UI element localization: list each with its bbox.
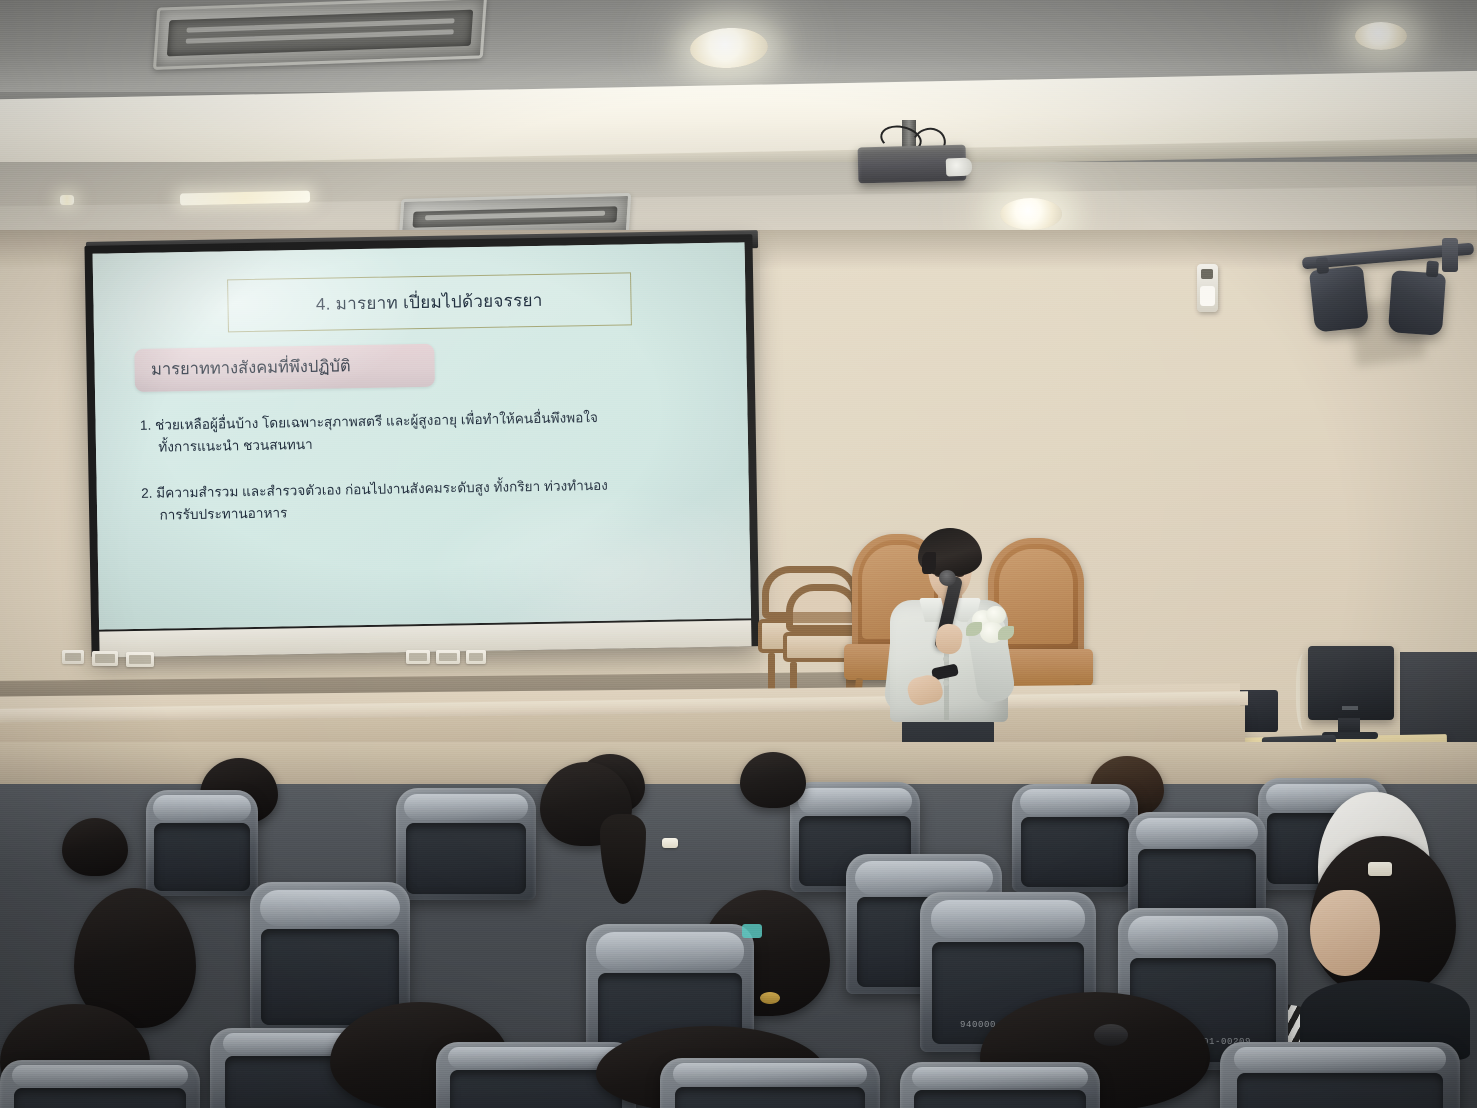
wall-outlet-plate-icon bbox=[436, 650, 460, 664]
wall-outlet-plate-icon bbox=[466, 650, 486, 664]
stage-spotlight-icon bbox=[1388, 270, 1446, 336]
stage-spotlight-icon bbox=[1309, 265, 1369, 332]
audience-seat bbox=[1220, 1042, 1460, 1108]
audience-seat bbox=[1012, 784, 1138, 892]
slide-bullet-1: 1. ช่วยเหลือผู้อื่นบ้าง โดยเฉพาะสุภาพสตร… bbox=[140, 405, 714, 459]
wall-outlet-plate-icon bbox=[92, 651, 118, 666]
audience-seat bbox=[660, 1058, 880, 1108]
hair-clip-icon bbox=[662, 838, 678, 848]
slide-section-banner: มารยาททางสังคมที่พึงปฏิบัติ bbox=[135, 344, 436, 392]
projector-lens-icon bbox=[946, 158, 973, 177]
audience-seat: 940-00000-0103 bbox=[0, 1060, 200, 1108]
audience-seat bbox=[396, 788, 536, 900]
slide-bullet-2: 2. มีความสำรวม และสำรวจตัวเอง ก่อนไปงานส… bbox=[141, 473, 715, 527]
downlight-icon bbox=[1000, 198, 1062, 230]
wall-dispenser-icon bbox=[1197, 264, 1218, 312]
flower-bouquet bbox=[966, 606, 1014, 650]
projection-screen: 4. มารยาท เปี่ยมไปด้วยจรรยา มารยาททางสัง… bbox=[84, 234, 759, 658]
hair-tie-icon bbox=[1094, 1024, 1128, 1046]
audience-seat bbox=[900, 1062, 1100, 1108]
ac-grille bbox=[413, 206, 618, 227]
slide-title: 4. มารยาท เปี่ยมไปด้วยจรรยา bbox=[316, 287, 543, 318]
audience-head bbox=[62, 818, 128, 876]
lighting-bar-mount bbox=[1442, 238, 1458, 272]
ceiling-ac-unit-icon bbox=[153, 0, 487, 70]
slide-title-box: 4. มารยาท เปี่ยมไปด้วยจรรยา bbox=[227, 273, 632, 333]
strip-light-icon bbox=[60, 195, 74, 205]
computer-monitor-icon bbox=[1308, 646, 1394, 720]
hair-tie-icon bbox=[760, 992, 780, 1004]
hair-clip-icon bbox=[1368, 862, 1392, 876]
audience-area: 940000-801-00207 940000-801-00209 940-00… bbox=[0, 742, 1477, 1108]
presentation-slide: 4. มารยาท เปี่ยมไปด้วยจรรยา มารยาททางสัง… bbox=[93, 242, 751, 629]
wall-outlet-plate-icon bbox=[406, 650, 430, 664]
chair-back bbox=[786, 584, 860, 632]
audience-head bbox=[740, 752, 806, 808]
ac-grille bbox=[167, 10, 473, 57]
seat-sticker bbox=[742, 924, 762, 938]
presenter-hair bbox=[918, 528, 982, 576]
audience-seat bbox=[146, 790, 258, 896]
presenter bbox=[880, 528, 1016, 768]
auditorium-photo: 4. มารยาท เปี่ยมไปด้วยจรรยา มารยาททางสัง… bbox=[0, 0, 1477, 1108]
slide-bullet-list: 1. ช่วยเหลือผู้อื่นบ้าง โดยเฉพาะสุภาพสตร… bbox=[140, 405, 716, 551]
wall-outlet-plate-icon bbox=[126, 652, 154, 667]
wall-outlet-plate-icon bbox=[62, 650, 84, 664]
screen-surface: 4. มารยาท เปี่ยมไปด้วยจรรยา มารยาททางสัง… bbox=[93, 242, 751, 629]
slide-banner-text: มารยาททางสังคมที่พึงปฏิบัติ bbox=[151, 354, 351, 383]
downlight-icon bbox=[1355, 22, 1407, 50]
audience-ponytail bbox=[600, 814, 646, 904]
